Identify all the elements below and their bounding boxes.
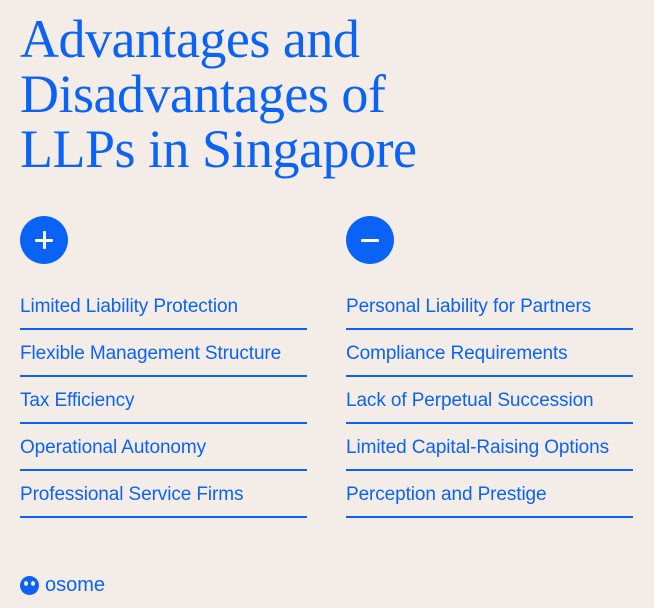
osome-logo: osome	[20, 575, 105, 595]
minus-icon	[346, 216, 394, 264]
list-item: Flexible Management Structure	[20, 341, 307, 377]
minus-icon-horizontal-bar	[361, 239, 379, 242]
osome-face-icon	[20, 576, 39, 595]
list-item: Perception and Prestige	[346, 482, 633, 518]
title-line-1: Advantages and	[20, 12, 580, 67]
page-title: Advantages and Disadvantages of LLPs in …	[20, 12, 580, 177]
list-item: Operational Autonomy	[20, 435, 307, 471]
list-item: Limited Capital-Raising Options	[346, 435, 633, 471]
title-line-2: Disadvantages of	[20, 67, 580, 122]
infographic-canvas: Advantages and Disadvantages of LLPs in …	[0, 0, 654, 608]
osome-wordmark: osome	[45, 575, 105, 595]
comparison-columns: Limited Liability Protection Flexible Ma…	[20, 216, 634, 518]
list-item: Tax Efficiency	[20, 388, 307, 424]
disadvantages-column: Personal Liability for Partners Complian…	[346, 216, 633, 518]
osome-face-icon-left-eye	[24, 581, 28, 586]
disadvantages-list: Personal Liability for Partners Complian…	[346, 294, 633, 518]
advantages-column: Limited Liability Protection Flexible Ma…	[20, 216, 307, 518]
plus-icon	[20, 216, 68, 264]
plus-icon-vertical-bar	[43, 231, 46, 249]
osome-face-icon-right-eye	[31, 581, 35, 586]
advantages-list: Limited Liability Protection Flexible Ma…	[20, 294, 307, 518]
list-item: Professional Service Firms	[20, 482, 307, 518]
list-item: Compliance Requirements	[346, 341, 633, 377]
list-item: Lack of Perpetual Succession	[346, 388, 633, 424]
title-line-3: LLPs in Singapore	[20, 122, 580, 177]
list-item: Personal Liability for Partners	[346, 294, 633, 330]
list-item: Limited Liability Protection	[20, 294, 307, 330]
